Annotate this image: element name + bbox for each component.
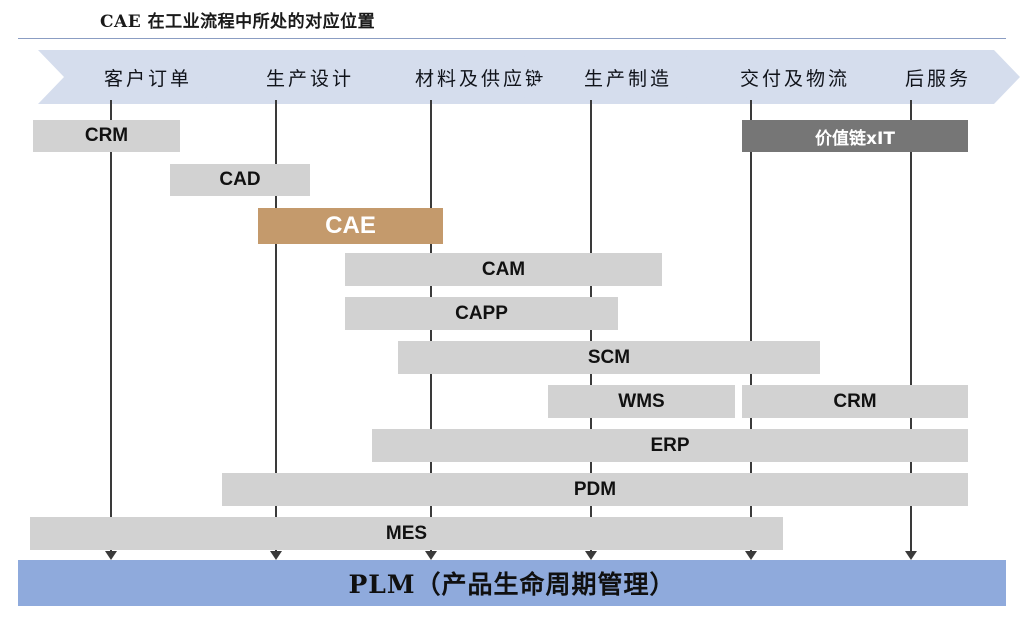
plm-label: PLM（产品生命周期管理）	[348, 565, 675, 601]
system-bar-label: ERP	[650, 435, 689, 457]
system-bar-label: MES	[386, 523, 427, 545]
system-bar--xit[interactable]: 价值链xIT	[742, 120, 968, 152]
system-bar-pdm[interactable]: PDM	[222, 473, 968, 506]
system-bar-label: CAD	[219, 169, 260, 191]
system-bar-label: WMS	[618, 391, 664, 413]
system-bar-label: CAPP	[455, 303, 508, 325]
system-bar-scm[interactable]: SCM	[398, 341, 820, 374]
system-bar-crm[interactable]: CRM	[742, 385, 968, 418]
system-bar-cae[interactable]: CAE	[258, 208, 443, 244]
system-bar-label: SCM	[588, 347, 630, 369]
system-bar-cam[interactable]: CAM	[345, 253, 662, 286]
system-bar-label: CAE	[325, 212, 376, 240]
system-bar-erp[interactable]: ERP	[372, 429, 968, 462]
system-bar-label: PDM	[574, 479, 616, 501]
plm-footer-bar: PLM（产品生命周期管理）	[18, 560, 1006, 606]
system-bar-mes[interactable]: MES	[30, 517, 783, 550]
system-bar-label: CRM	[833, 391, 876, 413]
system-bar-capp[interactable]: CAPP	[345, 297, 618, 330]
system-bar-label: CAM	[482, 259, 525, 281]
system-bar-cad[interactable]: CAD	[170, 164, 310, 196]
system-bar-wms[interactable]: WMS	[548, 385, 735, 418]
system-bars-layer: CRM价值链xITCADCAECAMCAPPSCMWMSCRMERPPDMMES	[0, 0, 1024, 625]
system-bar-crm[interactable]: CRM	[33, 120, 180, 152]
system-bar-label: 价值链xIT	[815, 124, 895, 149]
system-bar-label: CRM	[85, 125, 128, 147]
